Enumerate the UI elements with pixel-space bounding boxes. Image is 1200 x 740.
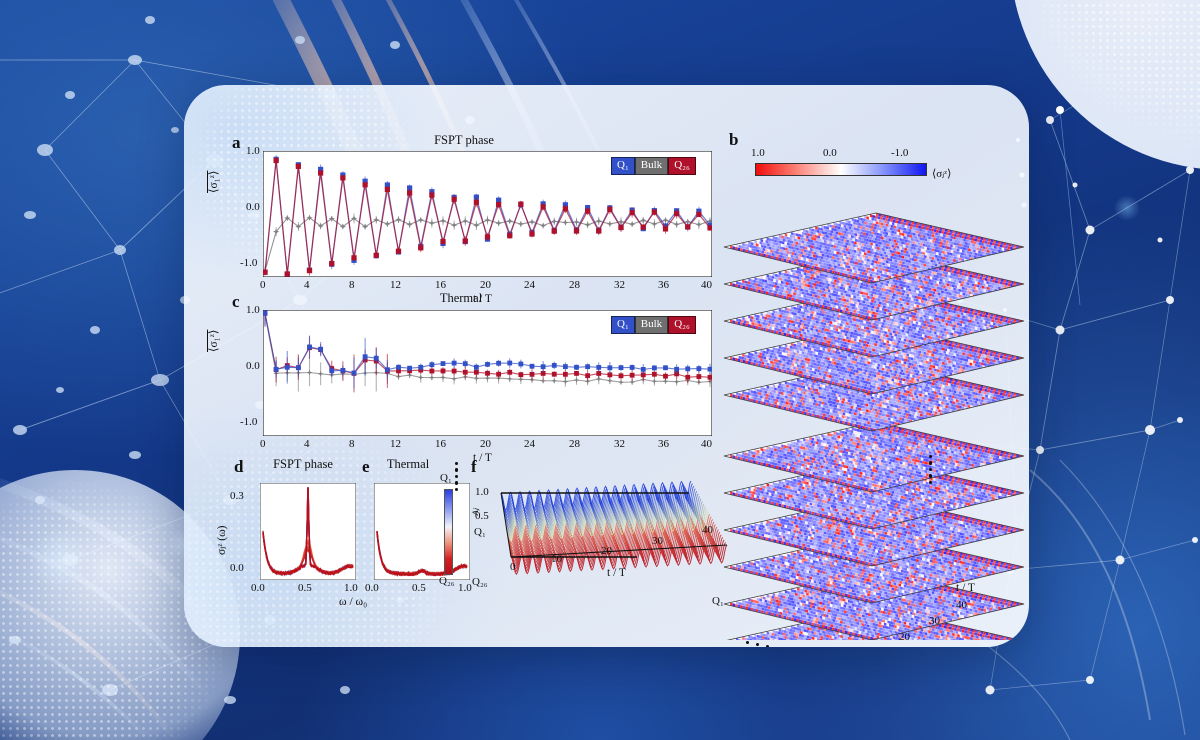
figure-content: a FSPT phase 1.0 0.0 -1.0 ⟨σ₁ᶻ⟩ 0 4 8 12… (184, 85, 1029, 647)
panel-f-xtick-1: 10 (551, 553, 562, 565)
panel-a-xtick-5: 20 (480, 279, 491, 291)
panel-c-letter: c (232, 292, 240, 312)
legend-item-q1[interactable]: Q₁ (611, 157, 635, 175)
panel-f-xtick-2: 20 (601, 545, 612, 557)
panel-b-time-tick-2: 20 (899, 631, 910, 643)
panel-c-xtick-7: 28 (569, 438, 580, 450)
qubit-colorbar-bottom-label: Q₂₆ (439, 575, 455, 587)
legend-item-bulk-thermal[interactable]: Bulk (635, 316, 668, 334)
panel-c-xtick-2: 8 (349, 438, 355, 450)
panel-e-xtick-2: 1.0 (458, 582, 472, 594)
panel-f-plot (489, 477, 729, 599)
panel-d-xtick-1: 0.5 (298, 582, 312, 594)
panel-a-xtick-0: 0 (260, 279, 266, 291)
panel-c-ytick-2: 0.0 (246, 360, 260, 372)
panel-c-ytick-1: 1.0 (246, 304, 260, 316)
panel-b-cbar-tick-3: -1.0 (891, 147, 908, 159)
panel-d-plot (260, 483, 356, 580)
panel-c-xtick-10: 40 (701, 438, 712, 450)
panel-b-time-tick-3: 30 (929, 615, 940, 627)
panel-a-title: FSPT phase (384, 133, 544, 148)
legend-item-q1-thermal[interactable]: Q₁ (611, 316, 635, 334)
legend-item-bulk[interactable]: Bulk (635, 157, 668, 175)
panel-e-plot (374, 483, 470, 580)
panel-b-letter: b (729, 130, 738, 150)
panel-f-ztick-1: 1.0 (475, 486, 489, 498)
panel-c-xtick-0: 0 (260, 438, 266, 450)
panel-c-xtick-6: 24 (524, 438, 535, 450)
panel-a-xtick-4: 16 (435, 279, 446, 291)
panel-b-cbar-tick-1: 1.0 (751, 147, 765, 159)
qubit-colorbar-top-label: Q₁ (440, 472, 452, 484)
panel-a-legend: Q₁ Bulk Q₂₆ (611, 157, 696, 175)
panel-de-xlabel: ω / ω₀ (339, 596, 367, 608)
panel-b-time-label: t / T (956, 582, 975, 594)
legend-item-q26[interactable]: Q₂₆ (668, 157, 696, 175)
panel-c-title: Thermal (396, 291, 526, 306)
panel-a-ylabel: ⟨σ₁ᶻ⟩ (206, 171, 220, 193)
panel-a-xtick-1: 4 (304, 279, 310, 291)
panel-f-xlabel: t / T (607, 567, 626, 579)
panel-c-xtick-9: 36 (658, 438, 669, 450)
panel-a-ytick-1: 1.0 (246, 145, 260, 157)
panel-c-xtick-5: 20 (480, 438, 491, 450)
panel-f-xtick-4: 40 (702, 524, 713, 536)
figure-card: a FSPT phase 1.0 0.0 -1.0 ⟨σ₁ᶻ⟩ 0 4 8 12… (184, 85, 1029, 647)
panel-f-xtick-3: 30 (652, 535, 663, 547)
panel-f-qubit-near: Q₂₆ (472, 576, 488, 588)
panel-b-layer-stack (714, 185, 1029, 640)
panel-a-xtick-3: 12 (390, 279, 401, 291)
panel-d-ytick-1: 0.3 (230, 490, 244, 502)
panel-d-xtick-2: 1.0 (344, 582, 358, 594)
panel-c-ytick-3: -1.0 (240, 416, 257, 428)
panel-c-xtick-3: 12 (390, 438, 401, 450)
panel-b-qubit-top-label: Q₁ (712, 595, 724, 607)
panel-b-ellipsis-right (929, 455, 932, 484)
panel-e-xtick-0: 0.0 (365, 582, 379, 594)
panel-a-ytick-3: -1.0 (240, 257, 257, 269)
panel-a-xtick-2: 8 (349, 279, 355, 291)
panel-d-letter: d (234, 457, 243, 477)
panel-f-qubit-far: Q₁ (474, 526, 486, 538)
panel-f-xtick-0: 0 (510, 561, 516, 573)
legend-item-q26-thermal[interactable]: Q₂₆ (668, 316, 696, 334)
panel-c-xtick-8: 32 (614, 438, 625, 450)
panel-b-time-tick-4: 40 (956, 599, 967, 611)
panel-a-ytick-2: 0.0 (246, 201, 260, 213)
panel-f-letter: f (471, 457, 477, 477)
panel-c-xtick-4: 16 (435, 438, 446, 450)
panel-a-letter: a (232, 133, 241, 153)
panel-b-cbar-tick-2: 0.0 (823, 147, 837, 159)
panel-f-ztick-2: 0.5 (475, 510, 489, 522)
panel-d-ytick-2: 0.0 (230, 562, 244, 574)
panel-d-xtick-0: 0.0 (251, 582, 265, 594)
panel-b-colorbar-label: ⟨σⱼᶻ⟩ (932, 167, 951, 180)
panel-c-xtick-1: 4 (304, 438, 310, 450)
qubit-colorbar (444, 489, 453, 575)
panel-a-xtick-7: 28 (569, 279, 580, 291)
panel-b-colorbar (755, 163, 927, 176)
panel-b-ellipsis-diagonal (746, 641, 816, 647)
panel-c-ylabel: ⟨σ₁ᶻ⟩ (206, 330, 220, 352)
panel-e-title: Thermal (368, 457, 448, 472)
panel-d-title: FSPT phase (248, 457, 358, 472)
panel-b-ellipsis-left (455, 462, 458, 491)
panel-a-xtick-9: 36 (658, 279, 669, 291)
panel-c-legend: Q₁ Bulk Q₂₆ (611, 316, 696, 334)
panel-a-xtick-6: 24 (524, 279, 535, 291)
panel-a-xtick-8: 32 (614, 279, 625, 291)
panel-a-xtick-10: 40 (701, 279, 712, 291)
panel-d-ylabel: σⱼᶻ (ω) (214, 526, 228, 555)
panel-e-xtick-1: 0.5 (412, 582, 426, 594)
